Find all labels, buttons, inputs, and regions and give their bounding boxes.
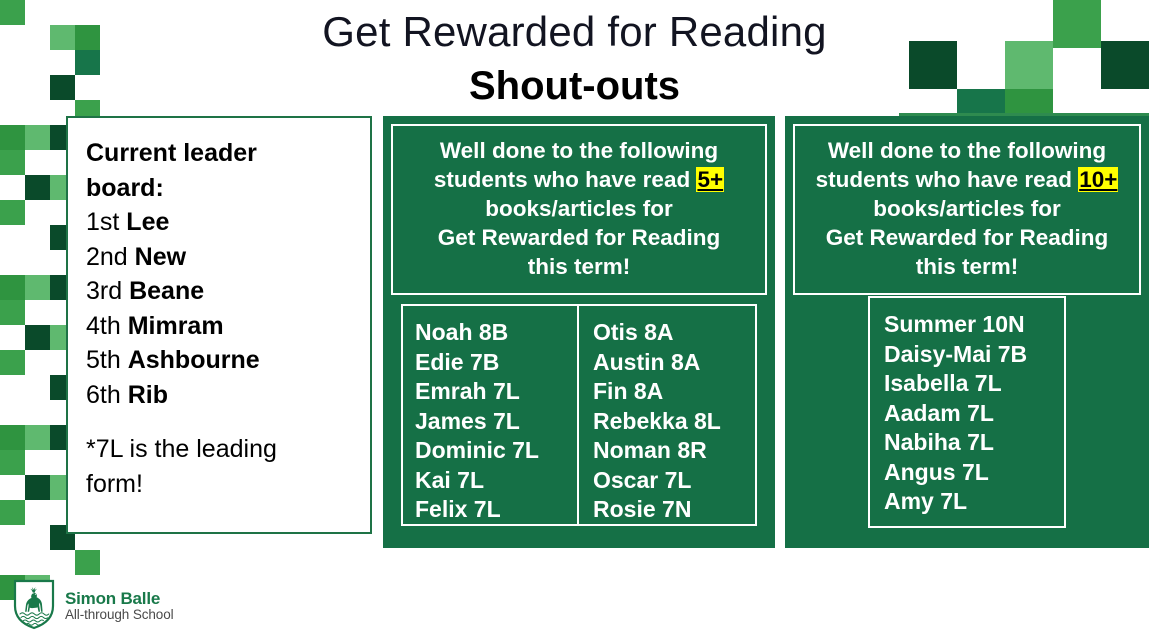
mosaic-tile — [0, 350, 25, 375]
shoutout-panel-5plus: Well done to the following students who … — [383, 116, 775, 548]
student-name: Amy 7L — [884, 487, 1058, 517]
heading-line3: books/articles for — [485, 196, 673, 221]
mosaic-tile — [25, 175, 50, 200]
logo-text-block: Simon Balle All-through School — [65, 590, 174, 623]
leaderboard-row: 5th Ashbourne — [86, 343, 354, 378]
leaderboard-house-name: Lee — [126, 208, 169, 236]
names-column-left: Summer 10NDaisy-Mai 7BIsabella 7LAadam 7… — [870, 298, 1064, 526]
shoutout-5plus-heading: Well done to the following students who … — [391, 124, 767, 295]
mosaic-tile — [25, 425, 50, 450]
leaderboard-house-name: Mimram — [128, 312, 224, 340]
mosaic-tile — [0, 275, 25, 300]
mosaic-tile — [25, 125, 50, 150]
student-name: Emrah 7L — [415, 377, 571, 407]
slide-canvas: Get Rewarded for Reading Shout-outs Curr… — [0, 0, 1149, 641]
school-logo: Simon Balle All-through School — [12, 578, 174, 635]
shoutout-5plus-names-box: Noah 8BEdie 7BEmrah 7LJames 7LDominic 7L… — [401, 304, 757, 526]
heading-line1: Well done to the following — [440, 138, 718, 163]
logo-school-subtitle: All-through School — [65, 608, 174, 623]
heading-line3: books/articles for — [873, 196, 1061, 221]
mosaic-tile — [75, 550, 100, 575]
heading-line5: this term! — [916, 254, 1019, 279]
student-name: Fin 8A — [593, 377, 749, 407]
student-name: Noah 8B — [415, 318, 571, 348]
names-column-left: Noah 8BEdie 7BEmrah 7LJames 7LDominic 7L… — [403, 306, 577, 524]
shoutout-10plus-names-box: Summer 10NDaisy-Mai 7BIsabella 7LAadam 7… — [868, 296, 1066, 528]
student-name: Aadam 7L — [884, 399, 1058, 429]
student-name: Angus 7L — [884, 458, 1058, 488]
heading-line2-prefix: students who have read — [434, 167, 697, 192]
mosaic-tile — [0, 500, 25, 525]
student-name: Rebekka 8L — [593, 407, 749, 437]
student-name: Edie 7B — [415, 348, 571, 378]
leaderboard-house-name: Beane — [129, 277, 204, 305]
mosaic-tile — [25, 475, 50, 500]
threshold-badge-10plus: 10+ — [1078, 167, 1118, 192]
leaderboard-house-name: Rib — [128, 381, 168, 409]
threshold-badge-5plus: 5+ — [696, 167, 724, 192]
mosaic-tile — [0, 150, 25, 175]
student-name: Summer 10N — [884, 310, 1058, 340]
page-subtitle: Shout-outs — [0, 62, 1149, 110]
stag-crest-icon — [12, 578, 56, 635]
leaderboard-entry-list: 1st Lee2nd New3rd Beane4th Mimram5th Ash… — [86, 205, 354, 412]
leaderboard-heading-line2: board: — [86, 171, 354, 206]
leaderboard-note-line1: *7L is the leading — [86, 432, 354, 467]
mosaic-tile — [0, 425, 25, 450]
shoutout-10plus-heading: Well done to the following students who … — [793, 124, 1141, 295]
mosaic-tile — [0, 200, 25, 225]
heading-line4: Get Rewarded for Reading — [826, 225, 1109, 250]
leaderboard-position: 5th — [86, 346, 128, 374]
student-name: Kai 7L — [415, 466, 571, 496]
leaderboard-panel: Current leader board: 1st Lee2nd New3rd … — [66, 116, 372, 534]
leaderboard-row: 1st Lee — [86, 205, 354, 240]
heading-line1: Well done to the following — [828, 138, 1106, 163]
leaderboard-note-line2: form! — [86, 467, 354, 502]
student-name: Isabella 7L — [884, 369, 1058, 399]
student-name: Noman 8R — [593, 436, 749, 466]
mosaic-tile — [0, 300, 25, 325]
leaderboard-heading-line1: Current leader — [86, 136, 354, 171]
mosaic-tile — [0, 125, 25, 150]
student-name: Daisy-Mai 7B — [884, 340, 1058, 370]
leaderboard-row: 3rd Beane — [86, 274, 354, 309]
mosaic-tile — [25, 325, 50, 350]
student-name: James 7L — [415, 407, 571, 437]
leaderboard-position: 3rd — [86, 277, 129, 305]
leaderboard-position: 6th — [86, 381, 128, 409]
student-name: Felix 7L — [415, 495, 571, 525]
leaderboard-position: 4th — [86, 312, 128, 340]
leaderboard-spacer — [86, 412, 354, 432]
student-name: Oscar 7L — [593, 466, 749, 496]
leaderboard-house-name: New — [135, 243, 186, 271]
student-name: Nabiha 7L — [884, 428, 1058, 458]
logo-school-name: Simon Balle — [65, 590, 174, 608]
heading-line5: this term! — [528, 254, 631, 279]
page-title: Get Rewarded for Reading — [0, 8, 1149, 56]
leaderboard-row: 4th Mimram — [86, 309, 354, 344]
leaderboard-row: 6th Rib — [86, 378, 354, 413]
heading-line4: Get Rewarded for Reading — [438, 225, 721, 250]
student-name: Dominic 7L — [415, 436, 571, 466]
student-name: Rosie 7N — [593, 495, 749, 525]
heading-line2-prefix: students who have read — [816, 167, 1079, 192]
leaderboard-position: 2nd — [86, 243, 135, 271]
leaderboard-position: 1st — [86, 208, 126, 236]
mosaic-tile — [0, 450, 25, 475]
student-name: Otis 8A — [593, 318, 749, 348]
names-column-right: Otis 8AAustin 8AFin 8ARebekka 8LNoman 8R… — [577, 306, 755, 524]
leaderboard-house-name: Ashbourne — [128, 346, 260, 374]
student-name: Austin 8A — [593, 348, 749, 378]
mosaic-tile — [25, 275, 50, 300]
shoutout-panel-10plus: Well done to the following students who … — [785, 116, 1149, 548]
leaderboard-row: 2nd New — [86, 240, 354, 275]
